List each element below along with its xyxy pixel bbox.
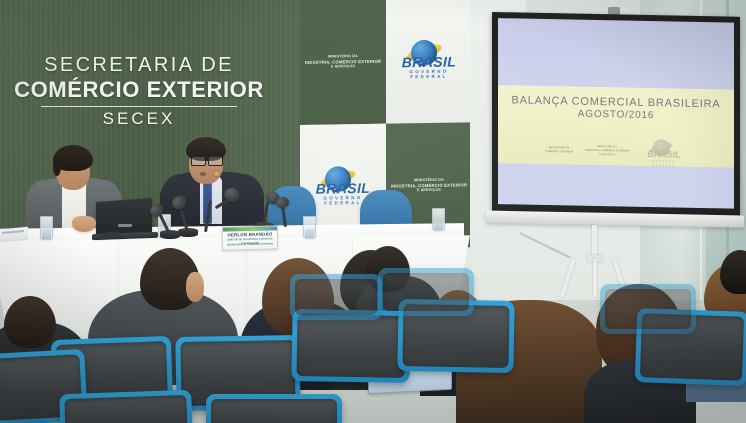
brasil-logo-icon: BRASIL GOVERNO FEDERAL xyxy=(394,40,464,81)
brasil-logo-subtitle: GOVERNO FEDERAL xyxy=(394,68,464,79)
audience-chair-6[interactable] xyxy=(59,390,193,423)
ministry-label: MINISTÉRIO DA INDÚSTRIA, COMÉRCIO EXTERI… xyxy=(305,54,381,71)
projection-screen-surface: BALANÇA COMERCIAL BRASILEIRA AGOSTO/2016… xyxy=(498,18,734,209)
chair-pad-8 xyxy=(345,391,445,423)
water-glass-4[interactable] xyxy=(432,208,445,231)
tripod-leg-left xyxy=(560,258,576,297)
left-official-sideburn xyxy=(53,158,61,176)
slide-footer-logos: SECRETARIA DE COMÉRCIO EXTERIOR MINISTÉR… xyxy=(498,137,734,166)
chair-pad-10 xyxy=(383,273,469,311)
tripod-post xyxy=(592,225,597,259)
backdrop-line-1: SECRETARIA DE xyxy=(0,55,278,76)
left-official-hand xyxy=(72,216,96,232)
panel-laptop-logo xyxy=(118,224,132,227)
ministry-label-line-3: E SERVIÇOS xyxy=(305,64,381,70)
projection-screen: BALANÇA COMERCIAL BRASILEIRA AGOSTO/2016… xyxy=(492,12,740,217)
slide-footer-brasil-logo-icon: BRASIL GOVERNO FEDERAL xyxy=(641,140,687,165)
slide-brasil-sub: GOVERNO FEDERAL xyxy=(641,159,687,168)
backdrop-line-3: SECEX xyxy=(0,109,278,129)
chair-pad-6 xyxy=(64,395,187,423)
panel-cell-ministry-green: MINISTÉRIO DA INDÚSTRIA, COMÉRCIO EXTERI… xyxy=(300,0,386,125)
chair-pad-11 xyxy=(605,289,691,329)
speaker-lapel-pin-icon xyxy=(214,171,219,176)
slide-footer-logo-secex: SECRETARIA DE COMÉRCIO EXTERIOR xyxy=(545,146,573,154)
nameplate: HERLON BRANDÃO DIRETOR DE ESTATÍSTICA E … xyxy=(222,225,278,250)
backdrop-line-2: COMÉRCIO EXTERIOR xyxy=(0,78,278,103)
conference-photo: SECRETARIA DE COMÉRCIO EXTERIOR SECEX MI… xyxy=(0,0,746,423)
slide-footer-secex-line-2: COMÉRCIO EXTERIOR xyxy=(545,150,573,154)
speaker-mouth xyxy=(200,172,206,176)
tripod-leg-center xyxy=(593,259,597,297)
audience-chair-10[interactable] xyxy=(378,268,474,316)
glasses-lens-right xyxy=(208,156,223,166)
water-glass-3[interactable] xyxy=(303,216,316,239)
audience-chair-11[interactable] xyxy=(600,284,696,334)
audience-chair-7[interactable] xyxy=(206,394,342,423)
glasses-bridge xyxy=(204,159,208,160)
chair-pad-3 xyxy=(296,314,405,378)
slide-footer-logo-ministry: MINISTÉRIO DA INDÚSTRIA, COMÉRCIO EXTERI… xyxy=(585,145,629,158)
audience-chair-9[interactable] xyxy=(290,274,382,320)
nameplate-role-line-2: SECRETARIA DE COMÉRCIO EXTERIOR xyxy=(223,242,277,247)
backdrop-title-block: SECRETARIA DE COMÉRCIO EXTERIOR SECEX xyxy=(0,55,278,129)
panel-cell-brasil-white: BRASIL GOVERNO FEDERAL xyxy=(386,0,470,124)
water-glass-1[interactable] xyxy=(40,216,53,240)
chair-pad-7 xyxy=(211,399,337,423)
audience-chair-3[interactable] xyxy=(291,309,410,383)
backdrop-underline xyxy=(41,106,237,108)
glasses-lens-left xyxy=(191,156,206,166)
mobile-phone[interactable] xyxy=(103,232,119,239)
ministry-label-2: MINISTÉRIO DA INDÚSTRIA, COMÉRCIO EXTERI… xyxy=(391,177,467,194)
audience-head-0 xyxy=(4,296,56,348)
slide-title-block: BALANÇA COMERCIAL BRASILEIRA AGOSTO/2016 xyxy=(498,94,734,123)
chair-pad-9 xyxy=(295,279,377,315)
glasses-icon xyxy=(191,156,221,164)
